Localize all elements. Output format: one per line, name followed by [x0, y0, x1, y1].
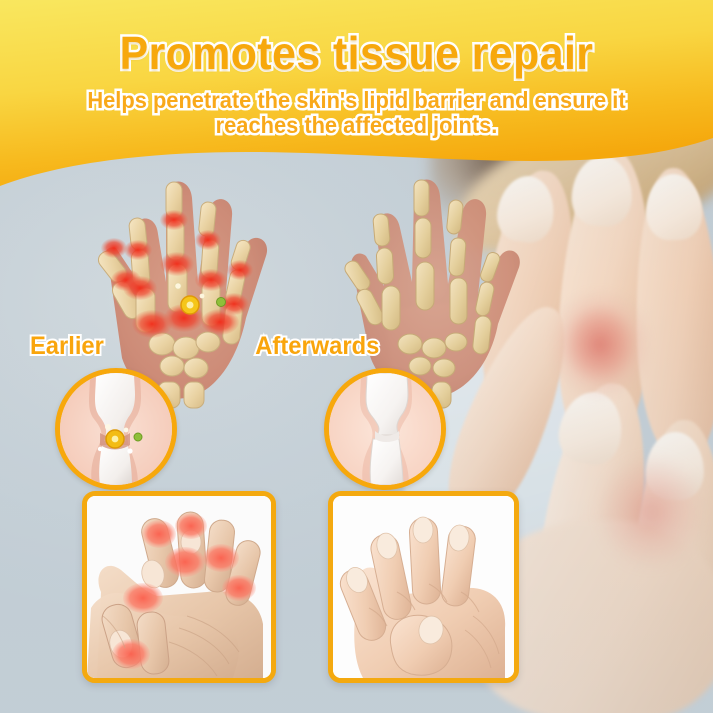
healthy-joint-inset	[324, 368, 446, 490]
inflamed-joint-inset	[55, 368, 177, 490]
label-earlier: Earlier	[30, 332, 104, 361]
label-afterwards: Afterwards	[255, 332, 379, 361]
product-poster: Promotes tissue repair Helps penetrate t…	[0, 0, 713, 713]
page-title: Promotes tissue repair	[25, 26, 688, 80]
page-subtitle: Helps penetrate the skin's lipid barrier…	[18, 88, 695, 138]
photo-before-arthritic-hands	[82, 491, 276, 683]
photo-after-healthy-hand	[328, 491, 519, 683]
page-subtitle-line-2: reaches the affected joints.	[18, 113, 695, 138]
page-subtitle-line-1: Helps penetrate the skin's lipid barrier…	[18, 88, 695, 113]
